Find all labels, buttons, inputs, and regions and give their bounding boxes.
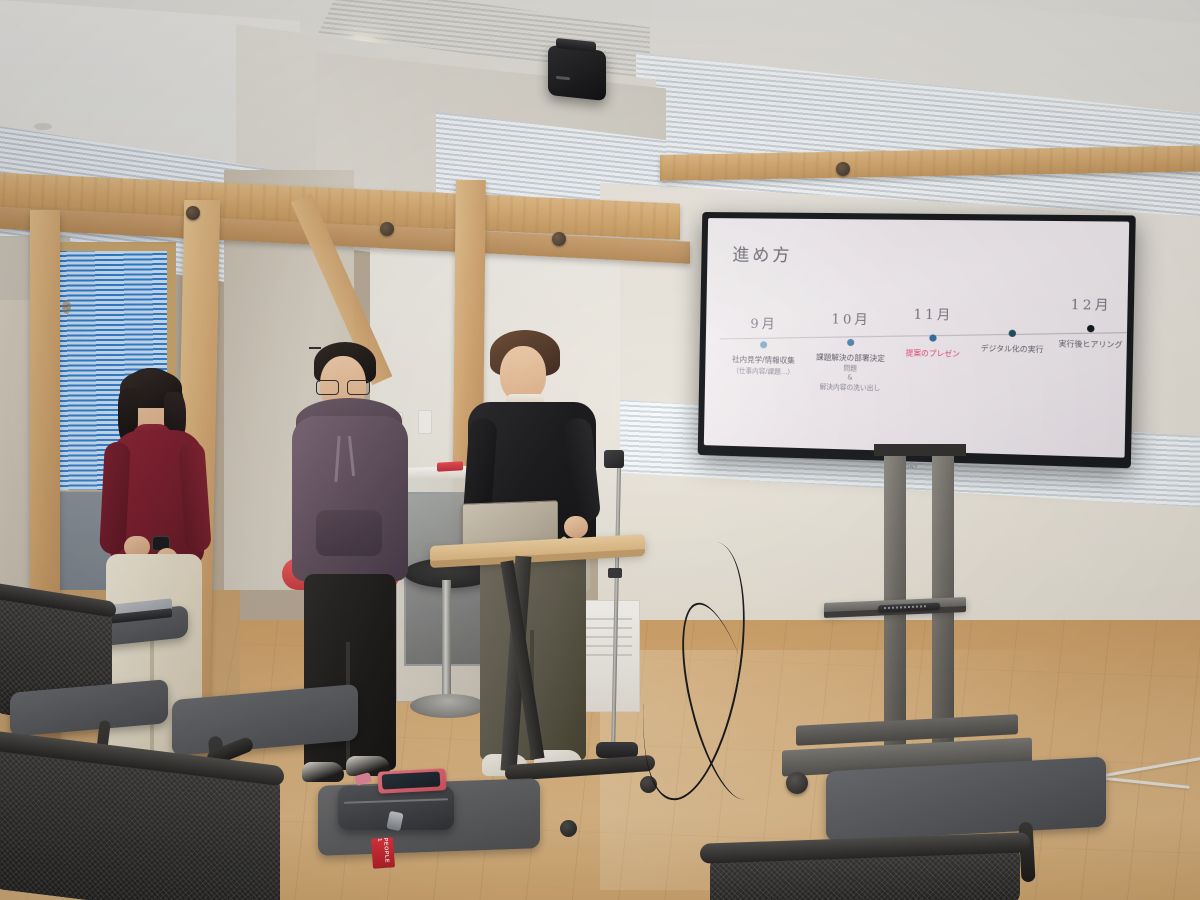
timeline-month-9: 9月 <box>750 313 778 333</box>
mic-stand-clip <box>608 568 622 578</box>
wood-knot <box>62 300 71 314</box>
timeline-dot-5 <box>1087 325 1095 332</box>
mic-stand-head <box>604 450 624 468</box>
beam-bolt <box>380 222 394 236</box>
timeline-sublabel-2: 問題 & 解決内容の洗い出し <box>815 363 884 394</box>
hoodie-pocket <box>316 510 382 556</box>
shoe-left <box>302 762 344 782</box>
timeline-dot-3 <box>929 334 936 341</box>
stand-caster <box>786 772 808 794</box>
chair-front-left[interactable] <box>0 756 290 900</box>
bag-tag-text: PEOPLE 1 <box>376 838 390 869</box>
photo-scene: 進め方 9月 社内見学/情報収集 （仕事内容/課題…） 10月 課題解決の部署決… <box>0 0 1200 900</box>
tv-stand-top-bracket <box>874 444 966 456</box>
timeline-sublabel-1: （仕事内容/課題…） <box>732 367 794 376</box>
slide: 進め方 9月 社内見学/情報収集 （仕事内容/課題…） 10月 課題解決の部署決… <box>704 218 1129 458</box>
desk-caster <box>560 820 577 837</box>
timeline-label-4: デジタル化の実行 <box>981 344 1044 356</box>
eyeglasses-icon <box>316 380 370 393</box>
beam-bolt <box>836 162 850 176</box>
bag-tag: PEOPLE 1 <box>371 837 395 868</box>
hand-right <box>564 516 588 538</box>
bar-stool-pole <box>442 580 451 700</box>
timeline-dot-1 <box>760 341 767 348</box>
timeline-month-12: 12月 <box>1071 294 1112 314</box>
timeline-label-2-text: 課題解決の部署決定 <box>816 352 885 363</box>
timeline-label-1-text: 社内見学/情報収集 <box>732 355 795 365</box>
tv-screen: 進め方 9月 社内見学/情報収集 （仕事内容/課題…） 10月 課題解決の部署決… <box>704 218 1129 458</box>
presentation-tv[interactable]: 進め方 9月 社内見学/情報収集 （仕事内容/課題…） 10月 課題解決の部署決… <box>698 212 1136 468</box>
smartphone-screen <box>382 771 441 789</box>
timeline-dot-4 <box>1009 330 1016 337</box>
wall-outlet[interactable] <box>418 410 432 434</box>
eyeglasses-bridge <box>309 347 321 349</box>
timeline-label-3: 提案のプレゼン <box>905 348 960 360</box>
beam-bolt <box>552 232 566 246</box>
timeline-month-11: 11月 <box>913 303 953 323</box>
chair-tablet-arm[interactable] <box>826 757 1106 842</box>
timeline-label-5: 実行後ヒアリング <box>1058 339 1122 352</box>
timeline-label-2: 課題解決の部署決定 問題 & 解決内容の洗い出し <box>815 352 885 394</box>
red-object-on-cabinet <box>437 461 463 471</box>
timeline-label-1: 社内見学/情報収集 （仕事内容/課題…） <box>732 355 795 378</box>
slide-title: 進め方 <box>732 240 793 266</box>
sprinkler-icon <box>34 123 52 130</box>
beam-bolt <box>186 206 200 220</box>
ceiling-speaker-icon <box>548 45 606 101</box>
timeline-dot-2 <box>847 339 854 346</box>
chair-front-right[interactable] <box>700 838 1030 900</box>
timeline-month-10: 10月 <box>831 308 871 328</box>
